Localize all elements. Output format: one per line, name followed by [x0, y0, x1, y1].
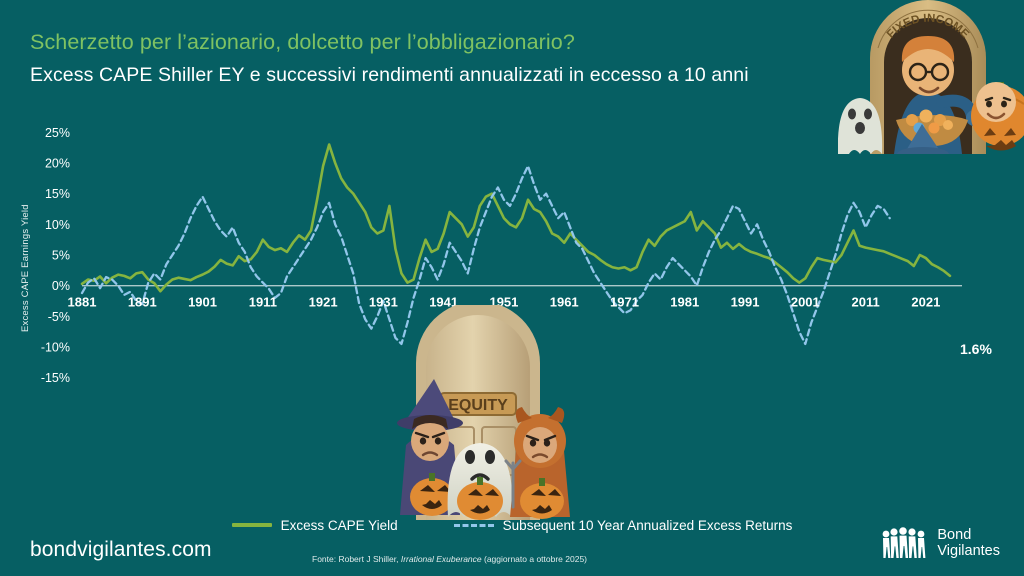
- y-tick-label: 0%: [52, 279, 70, 293]
- y-tick-label: 25%: [45, 126, 70, 140]
- page-subtitle: Excess CAPE Shiller EY e successivi rend…: [30, 64, 749, 87]
- end-value-label: 1.6%: [960, 341, 992, 357]
- logo-line-2: Vigilantes: [937, 543, 1000, 559]
- y-tick-label: -5%: [48, 310, 70, 324]
- x-tick-label: 2011: [851, 295, 879, 310]
- legend-swatch-dashed-icon: [454, 524, 494, 527]
- legend-swatch-solid-icon: [232, 523, 272, 527]
- legend-item-subsequent-returns[interactable]: Subsequent 10 Year Annualized Excess Ret…: [454, 518, 793, 533]
- x-tick-label: 1971: [610, 295, 639, 310]
- y-tick-label: -15%: [41, 371, 70, 385]
- source-prefix: Fonte: Robert J Shiller,: [312, 554, 401, 564]
- legend-label: Subsequent 10 Year Annualized Excess Ret…: [503, 518, 793, 533]
- fixed-income-door-illustration: FIXED INCOME: [838, 0, 1024, 154]
- source-suffix: (aggiornato a ottobre 2025): [482, 554, 587, 564]
- source-note: Fonte: Robert J Shiller, Irrational Exub…: [312, 554, 587, 564]
- y-tick-label: -10%: [41, 341, 70, 355]
- logo-line-1: Bond: [937, 527, 1000, 543]
- y-tick-label: 20%: [45, 156, 70, 170]
- x-tick-label: 1911: [249, 295, 277, 310]
- equity-door-illustration: EQUITY: [382, 305, 614, 520]
- legend-label: Excess CAPE Yield: [281, 518, 398, 533]
- y-tick-label: 10%: [45, 218, 70, 232]
- x-tick-label: 1921: [309, 295, 338, 310]
- x-tick-label: 1981: [670, 295, 699, 310]
- source-title: Irrational Exuberance: [401, 554, 482, 564]
- page-title: Scherzetto per l’azionario, dolcetto per…: [30, 30, 575, 55]
- x-tick-label: 1991: [731, 295, 760, 310]
- x-tick-label: 2001: [791, 295, 820, 310]
- logo-text: Bond Vigilantes: [937, 527, 1000, 559]
- x-tick-label: 1881: [68, 295, 97, 310]
- legend-item-excess-cape-yield[interactable]: Excess CAPE Yield: [232, 518, 398, 533]
- equity-door-sign: EQUITY: [448, 397, 508, 414]
- slide-root: Scherzetto per l’azionario, dolcetto per…: [0, 0, 1024, 576]
- y-tick-label: 5%: [52, 249, 70, 263]
- site-url: bondvigilantes.com: [30, 538, 212, 562]
- bond-vigilantes-logo: Bond Vigilantes: [880, 527, 1000, 559]
- x-tick-label: 2021: [911, 295, 940, 310]
- chart-legend: Excess CAPE Yield Subsequent 10 Year Ann…: [0, 512, 1024, 538]
- y-tick-label: 15%: [45, 187, 70, 201]
- people-group-icon: [880, 527, 928, 559]
- x-tick-label: 1891: [128, 295, 157, 310]
- x-tick-label: 1901: [188, 295, 217, 310]
